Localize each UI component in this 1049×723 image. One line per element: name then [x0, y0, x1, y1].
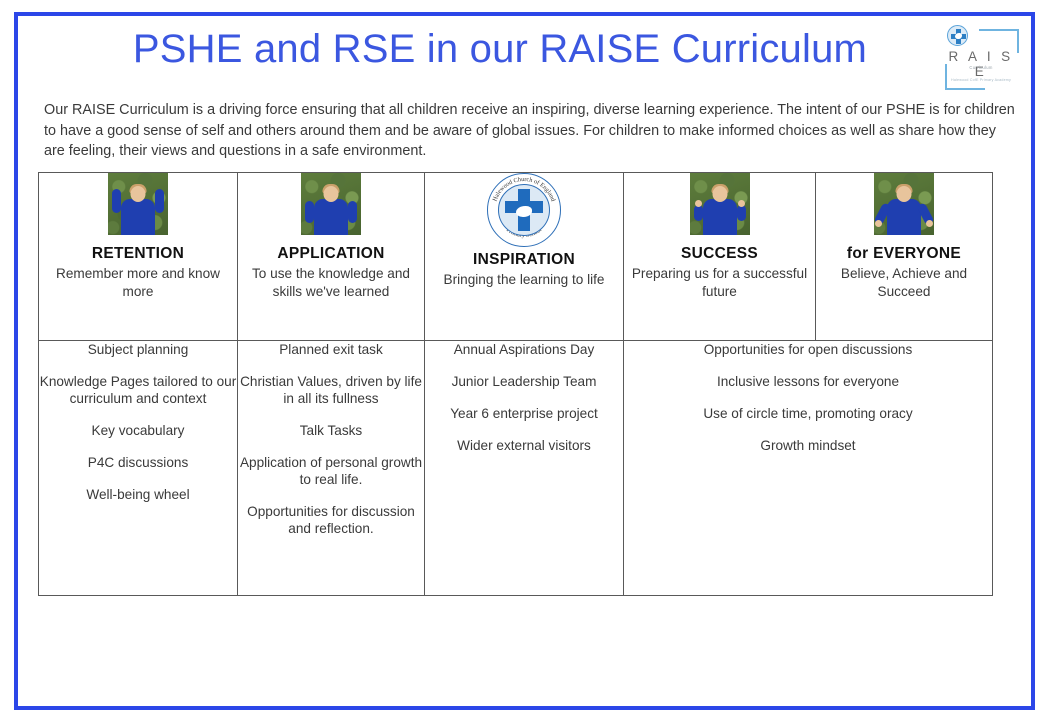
logo-footer: Halewood CofE Primary Academy [945, 78, 1017, 82]
pupil-arm-right [348, 201, 357, 223]
list-item: Talk Tasks [238, 422, 424, 439]
header-cell-application: APPLICATION To use the knowledge and ski… [238, 173, 425, 341]
header-title-success: SUCCESS [624, 245, 815, 263]
header-subtitle-application: To use the knowledge and skills we've le… [238, 265, 424, 301]
list-item: Annual Aspirations Day [425, 341, 623, 358]
pupil-head [131, 186, 146, 202]
header-title-everyone: for EVERYONE [816, 245, 992, 263]
school-crest-icon: Halewood Church of England · Primary Sch… [487, 173, 561, 247]
list-item: Wider external visitors [425, 437, 623, 454]
page-root: PSHE and RSE in our RAISE Curriculum R A… [0, 0, 1049, 723]
list-item: Use of circle time, promoting oracy [624, 405, 992, 422]
list-item: Subject planning [39, 341, 237, 358]
pupil-arm-right [155, 189, 164, 213]
pupil-arm-left [112, 189, 121, 213]
table-header-row: RETENTION Remember more and know more AP… [39, 173, 993, 341]
header-cell-inspiration: Halewood Church of England · Primary Sch… [425, 173, 624, 341]
body-cell-retention: Subject planning Knowledge Pages tailore… [39, 341, 238, 596]
pupil-head [712, 186, 727, 202]
body-cell-success-everyone: Opportunities for open discussions Inclu… [624, 341, 993, 596]
body-cell-application: Planned exit task Christian Values, driv… [238, 341, 425, 596]
header-subtitle-inspiration: Bringing the learning to life [425, 271, 623, 289]
logo-wordmark: R A I S E [945, 49, 1017, 79]
body-cell-inspiration: Annual Aspirations Day Junior Leadership… [425, 341, 624, 596]
pupil-body [703, 199, 737, 235]
header-subtitle-success: Preparing us for a successful future [624, 265, 815, 301]
header-title-application: APPLICATION [238, 245, 424, 263]
header-cell-retention: RETENTION Remember more and know more [39, 173, 238, 341]
intro-paragraph: Our RAISE Curriculum is a driving force … [44, 100, 1016, 162]
header-cell-everyone: for EVERYONE Believe, Achieve and Succee… [816, 173, 993, 341]
cross-dove-badge-icon [947, 25, 968, 46]
list-item: Well-being wheel [39, 486, 237, 503]
list-item: Junior Leadership Team [425, 373, 623, 390]
list-item: Key vocabulary [39, 422, 237, 439]
page-title: PSHE and RSE in our RAISE Curriculum [40, 24, 960, 74]
pupil-hand-left [695, 200, 702, 207]
pupil-body [314, 199, 348, 235]
header-subtitle-retention: Remember more and know more [39, 265, 237, 301]
header-cell-success: SUCCESS Preparing us for a successful fu… [624, 173, 816, 341]
logo-subtitle: Curriculum [945, 65, 1017, 70]
pupil-body [887, 199, 921, 235]
header-title-inspiration: INSPIRATION [425, 251, 623, 269]
list-item: Growth mindset [624, 437, 992, 454]
table-body-row: Subject planning Knowledge Pages tailore… [39, 341, 993, 596]
list-item: Knowledge Pages tailored to our curricul… [39, 373, 237, 407]
list-item: Opportunities for discussion and reflect… [238, 503, 424, 537]
pupil-head [324, 186, 339, 202]
pupil-hand-right [926, 220, 933, 227]
pupil-body [121, 199, 155, 235]
pupil-arm-right [737, 205, 746, 221]
list-item: Christian Values, driven by life in all … [238, 373, 424, 407]
raise-curriculum-logo: R A I S E Curriculum Halewood CofE Prima… [943, 25, 1019, 90]
pupil-photo-everyone [874, 173, 934, 235]
list-item: Opportunities for open discussions [624, 341, 992, 358]
list-item: Year 6 enterprise project [425, 405, 623, 422]
pupil-hand-right [738, 200, 745, 207]
pupil-head [897, 186, 912, 202]
pupil-photo-application [301, 173, 361, 235]
list-item: Application of personal growth to real l… [238, 454, 424, 488]
list-item: Planned exit task [238, 341, 424, 358]
pupil-photo-success [690, 173, 750, 235]
pupil-arm-left [305, 201, 314, 223]
header-subtitle-everyone: Believe, Achieve and Succeed [816, 265, 992, 301]
curriculum-table: RETENTION Remember more and know more AP… [38, 172, 993, 596]
list-item: Inclusive lessons for everyone [624, 373, 992, 390]
pupil-hand-left [875, 220, 882, 227]
pupil-photo-retention [108, 173, 168, 235]
header-title-retention: RETENTION [39, 245, 237, 263]
list-item: P4C discussions [39, 454, 237, 471]
pupil-arm-left [694, 205, 703, 221]
